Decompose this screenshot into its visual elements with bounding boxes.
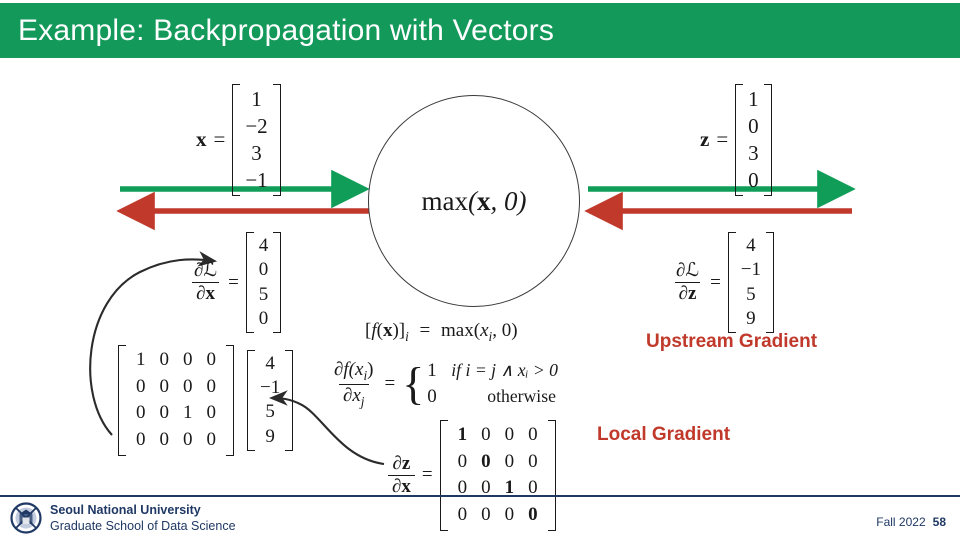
product-vector: 4 −1 5 9	[247, 350, 293, 451]
output-symbol: z	[700, 127, 709, 152]
slide-header: Example: Backpropagation with Vectors	[0, 3, 960, 58]
bracket-right	[764, 84, 772, 196]
vector-cell: −1	[245, 167, 267, 194]
node-paren-open: (	[468, 186, 477, 216]
case-row: 0 otherwise	[427, 384, 558, 410]
bracket-left	[735, 84, 743, 196]
matrix-cell-diagonal: 0	[521, 502, 545, 529]
case-row: 1 if i = j ∧ xᵢ > 0	[427, 358, 558, 384]
left-brace: {	[402, 358, 424, 410]
vector-cell: 0	[259, 258, 269, 282]
index-subscript: j	[361, 394, 365, 409]
vector-cell: 1	[251, 86, 262, 113]
partial-symbol: ∂	[194, 260, 203, 281]
derivative-fraction: ∂f(xi) ∂xj	[330, 360, 377, 409]
vector-cell: 3	[748, 140, 759, 167]
vector-cell: −1	[741, 258, 761, 282]
matrix-cell: 0	[498, 422, 522, 449]
equals-sign: =	[422, 464, 433, 486]
jacobian-fraction: ∂z ∂x	[388, 454, 415, 497]
matrix-cell: 0	[129, 400, 153, 427]
local-gradient-label: Local Gradient	[597, 424, 730, 446]
matrix-cell: 1	[129, 347, 153, 374]
node-zero: 0	[504, 186, 518, 216]
matrix-cell: 0	[153, 374, 177, 401]
vector-cell: 0	[259, 307, 269, 331]
loss-symbol: ℒ	[203, 260, 217, 281]
grad-z-equals: =	[710, 272, 721, 294]
piecewise-cases: { 1 if i = j ∧ xᵢ > 0 0 otherwise	[402, 358, 558, 410]
node-separator: ,	[491, 186, 505, 216]
matrix-cell: 0	[153, 427, 177, 454]
matrix-cell: 0	[451, 449, 475, 476]
partial-symbol: ∂	[334, 359, 343, 380]
matrix-cell-diagonal: 1	[498, 475, 522, 502]
vector-cell: 1	[748, 86, 759, 113]
matrix-cell: 0	[521, 475, 545, 502]
input-symbol: x	[196, 127, 207, 152]
jacobian-matrix-dz-dx: ∂z ∂x = 1 0 0 0 0 0 0 0	[388, 420, 556, 531]
matrix-cell: 0	[474, 422, 498, 449]
gradient-wrt-x: ∂ℒ ∂x = 4 0 5 0	[190, 232, 281, 333]
upstream-gradient-label: Upstream Gradient	[646, 331, 817, 353]
page-title: Example: Backpropagation with Vectors	[0, 14, 554, 48]
snu-logo-icon	[8, 501, 44, 535]
output-equals: =	[716, 127, 728, 152]
gradient-wrt-z: ∂ℒ ∂z = 4 −1 5 9	[672, 232, 774, 333]
equals-sign: =	[420, 320, 431, 341]
matrix-row: 0 0 0 0	[129, 374, 223, 401]
vector-cell: 5	[746, 283, 756, 307]
bracket-left	[728, 232, 736, 333]
matrix-cell: 0	[153, 347, 177, 374]
vector-cell: 0	[748, 167, 759, 194]
footer-divider	[0, 495, 960, 497]
denominator-symbol: z	[688, 283, 696, 304]
matrix-cell: 0	[474, 502, 498, 529]
vector-cell: 3	[251, 140, 262, 167]
denominator-variable: x	[352, 385, 360, 406]
matrix-cell: 0	[521, 422, 545, 449]
matrix-row: 1 0 0 0	[451, 422, 545, 449]
denominator-symbol: x	[205, 283, 215, 304]
relu-derivative: ∂f(xi) ∂xj = { 1 if i = j ∧ xᵢ > 0 0 oth…	[330, 358, 558, 410]
numerator-function: f(x	[343, 359, 363, 380]
equals-sign: =	[384, 373, 395, 395]
matrix-cell: 0	[129, 427, 153, 454]
node-variable: x	[477, 186, 491, 216]
bracket-right	[548, 420, 556, 531]
matrix-row: 0 0 1 0	[451, 475, 545, 502]
bracket-right	[285, 350, 293, 451]
footer-department-name: Graduate School of Data Science	[50, 519, 236, 535]
vector-cell: 9	[746, 307, 756, 331]
matrix-cell-diagonal: 0	[474, 449, 498, 476]
grad-z-fraction: ∂ℒ ∂z	[672, 261, 703, 304]
jacobian-values: 1 0 0 0 0 0 0 0 0 0 1 0	[440, 420, 556, 531]
case-value: 0	[427, 384, 443, 410]
function-node-circle: max(x, 0)	[368, 95, 580, 307]
output-vector-z: z = 1 0 3 0	[700, 84, 772, 196]
partial-symbol: ∂	[343, 385, 352, 406]
matrix-cell: 0	[451, 502, 475, 529]
vector-cell: −2	[245, 113, 267, 140]
bracket-left	[440, 420, 448, 531]
vector-cell: 4	[746, 234, 756, 258]
matrix-cell-diagonal: 1	[451, 422, 475, 449]
matrix-cell: 0	[498, 502, 522, 529]
max-tail: , 0)	[492, 320, 517, 341]
partial-symbol: ∂	[679, 283, 688, 304]
matrix-cell: 0	[474, 475, 498, 502]
matrix-row: 0 0 0 0	[451, 449, 545, 476]
matrix-cell: 0	[498, 449, 522, 476]
footer-term: Fall 2022	[876, 515, 925, 529]
vector-cell: 4	[259, 234, 269, 258]
index-subscript: i	[405, 329, 409, 344]
matrix-cell: 0	[200, 400, 224, 427]
grad-x-equals: =	[228, 272, 239, 294]
vector-cell: 5	[265, 400, 275, 424]
matrix-cell: 0	[176, 427, 200, 454]
max-open: max(	[441, 320, 480, 341]
footer-page-number: 58	[933, 515, 946, 529]
matrix-row: 0 0 0 0	[451, 502, 545, 529]
matrix-cell: 1	[176, 400, 200, 427]
grad-x-values: 4 0 5 0	[246, 232, 282, 333]
product-matrix: 1 0 0 0 0 0 0 0 0 0 1 0	[118, 345, 234, 456]
vector-cell: 4	[265, 352, 275, 376]
matrix-cell: 0	[176, 347, 200, 374]
matrix-cell: 0	[200, 347, 224, 374]
matrix-cell: 0	[129, 374, 153, 401]
matrix-cell: 0	[521, 449, 545, 476]
footer-meta: Fall 202258	[876, 515, 946, 529]
case-condition: otherwise	[443, 384, 556, 408]
bracket-left	[247, 350, 255, 451]
partial-symbol: ∂	[676, 260, 685, 281]
bracket-right	[273, 84, 281, 196]
relu-definition: [f(x)]i = max(xi, 0)	[365, 320, 518, 345]
paren-close: )	[367, 359, 373, 380]
input-vector-values: 1 −2 3 −1	[232, 84, 280, 196]
case-value: 1	[427, 358, 443, 384]
bracket-left	[118, 345, 126, 456]
input-vector-x: x = 1 −2 3 −1	[196, 84, 281, 196]
vector-cell: 0	[748, 113, 759, 140]
grad-x-fraction: ∂ℒ ∂x	[190, 261, 221, 304]
matrix-row: 0 0 1 0	[129, 400, 223, 427]
max-variable: x	[480, 320, 488, 341]
footer-university-name: Seoul National University	[50, 503, 236, 519]
bracket-left	[246, 232, 254, 333]
matrix-cell: 0	[200, 374, 224, 401]
bracket-right	[226, 345, 234, 456]
partial-symbol: ∂	[392, 476, 401, 497]
numerator-symbol: z	[402, 453, 410, 474]
jacobian-vector-product: 1 0 0 0 0 0 0 0 0 0 1 0	[118, 345, 293, 456]
node-max-text: max	[422, 186, 469, 216]
partial-symbol: ∂	[393, 453, 402, 474]
bracket-right	[273, 232, 281, 333]
slide: Example: Backpropagation with Vectors	[0, 0, 960, 542]
node-paren-close: )	[518, 186, 527, 216]
case-condition: if i = j ∧ xᵢ > 0	[443, 358, 558, 382]
vector-cell: 9	[265, 425, 275, 449]
matrix-cell: 0	[451, 475, 475, 502]
bracket-left	[232, 84, 240, 196]
vector-cell: 5	[259, 283, 269, 307]
vector-cell: −1	[260, 376, 280, 400]
input-equals: =	[214, 127, 226, 152]
output-vector-values: 1 0 3 0	[735, 84, 772, 196]
matrix-row: 1 0 0 0	[129, 347, 223, 374]
matrix-row: 0 0 0 0	[129, 427, 223, 454]
denominator-symbol: x	[401, 476, 411, 497]
node-label: max(x, 0)	[422, 186, 527, 217]
footer-institution: Seoul National University Graduate Schoo…	[50, 503, 236, 534]
matrix-cell: 0	[176, 374, 200, 401]
matrix-cell: 0	[200, 427, 224, 454]
loss-symbol: ℒ	[685, 260, 699, 281]
matrix-cell: 0	[153, 400, 177, 427]
bracket-right	[766, 232, 774, 333]
grad-z-values: 4 −1 5 9	[728, 232, 774, 333]
